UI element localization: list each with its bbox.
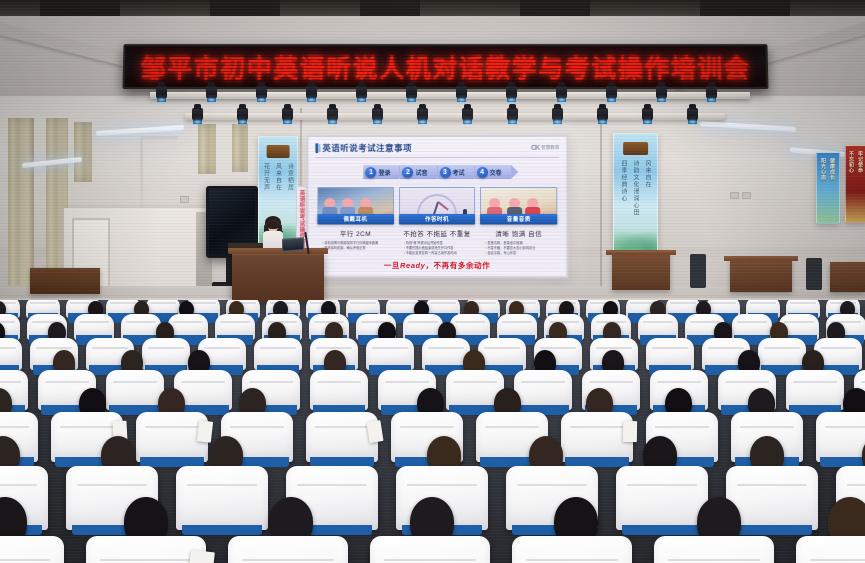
audience-seat	[616, 466, 708, 530]
audience-seat	[254, 338, 302, 370]
side-desk	[830, 262, 865, 292]
brand-text: 智慧教育	[541, 145, 559, 151]
poster-text-group: 四季经典诗心 诗韵文化浸润心田 风来自在	[614, 160, 657, 216]
stage-spotlight	[237, 108, 248, 121]
soffit-block	[210, 0, 280, 16]
audience-seat	[215, 314, 255, 340]
slide-panel: 作答时机不抢答 不拖延 不重复听到“滴”声提示后开始作答不要在提示音结束前抢先开…	[399, 187, 476, 256]
slide-panel-badge: 佩戴耳机	[317, 214, 393, 224]
slide-panel: 音量音质清晰 饱满 自信发音清晰，音量适中饱满不急不缓，不要忽大忽小影响评分自信…	[480, 187, 557, 256]
wall-plate	[180, 196, 189, 203]
poster-column: 风来自在	[274, 163, 283, 191]
led-banner: 邹平市初中英语听说人机对话教学与考试操作培训会	[122, 44, 768, 89]
slide-step-number: 1	[366, 167, 377, 178]
audience-seat	[758, 338, 806, 370]
footer-text-2: ，不再有多余动作	[425, 261, 490, 270]
slide-panel-subtitle: 不抢答 不拖延 不重复	[399, 228, 476, 238]
slide-bullet: 检查耳机连接，确认声音正常	[322, 246, 393, 251]
poster-text-group: 花开无声 风来自在 诗意栖居	[259, 163, 297, 191]
wall-poster-small-blue: 阳光心态 健康成长	[816, 152, 840, 224]
audience-seat	[786, 370, 844, 410]
poster-column: 四季经典诗心	[619, 160, 628, 216]
podium-top	[228, 248, 328, 254]
slide-logo: CK 智慧教育	[531, 144, 559, 151]
wall-plate	[742, 192, 751, 199]
slide-panel-subtitle: 清晰 饱满 自信	[480, 228, 557, 238]
audience-seat	[646, 338, 694, 370]
stage-spotlight	[706, 86, 717, 99]
stage-spotlight	[642, 108, 653, 121]
audience-seat	[0, 338, 22, 370]
stage-spotlight	[206, 86, 217, 99]
wall-plate	[730, 192, 739, 199]
audience-seat	[512, 536, 632, 563]
handout-paper	[187, 550, 215, 563]
audience-seat	[121, 314, 161, 340]
stage-spotlight	[327, 108, 338, 121]
slide-step-number: 4	[477, 166, 488, 177]
stage-spotlight	[417, 108, 428, 121]
stage-spotlight	[192, 108, 203, 121]
wall-pipe-horizontal	[140, 136, 178, 139]
stage-spotlight	[606, 86, 617, 99]
slide-title-bar-icon	[315, 143, 318, 153]
podium	[232, 252, 324, 302]
slide-header: 英语听说考试注意事项 CK 智慧教育	[315, 142, 559, 158]
slide-step: 3考试	[437, 165, 473, 179]
presentation-slide: 英语听说考试注意事项 CK 智慧教育 1登录2试音3考试4交卷 佩戴耳机平行 2…	[308, 137, 566, 276]
poster-grass-art	[614, 228, 657, 250]
slide-panel-bullets: 耳机话筒与嘴部保持平行约两厘米距离检查耳机连接，确认声音正常	[317, 241, 393, 251]
window-curtain	[232, 124, 248, 172]
poster-plaque	[623, 142, 649, 155]
slide-panel-bullets: 听到“滴”声提示后开始作答不要在提示音结束前抢先开口作答不能反复重复同一内容占用…	[399, 241, 476, 256]
slide-panel: 佩戴耳机平行 2CM耳机话筒与嘴部保持平行约两厘米距离检查耳机连接，确认声音正常	[317, 187, 393, 256]
stage-spotlight	[456, 86, 467, 99]
stage-spotlight	[156, 86, 167, 99]
slide-step-label: 登录	[379, 168, 391, 177]
presenter-laptop	[282, 238, 304, 253]
seat-frame	[182, 525, 263, 535]
poster-column: 牢记使命	[857, 151, 864, 173]
audience-seat	[816, 412, 865, 462]
stage-spotlight	[556, 86, 567, 99]
wall-poster-small-red: 不忘初心 牢记使命	[845, 145, 865, 223]
stage-spotlight	[372, 108, 383, 121]
brand-mark-icon: CK	[531, 144, 539, 151]
slide-step: 1登录	[364, 165, 400, 179]
audience-seat	[310, 370, 368, 410]
wall-poster-right: 四季经典诗心 诗韵文化浸润心田 风来自在	[613, 133, 658, 251]
slide-step-flow: 1登录2试音3考试4交卷	[315, 165, 559, 179]
audience-seat	[106, 370, 164, 410]
poster-column: 不忘初心	[848, 151, 855, 173]
audience-seat	[497, 314, 537, 340]
poster-column: 诗意栖居	[286, 163, 295, 191]
stage-spotlight	[356, 86, 367, 99]
audience-seat	[0, 536, 64, 563]
led-banner-text: 邹平市初中英语听说人机对话教学与考试操作培训会	[140, 49, 750, 85]
audience-seat	[654, 536, 774, 563]
slide-step-label: 试音	[415, 168, 427, 177]
slide-title: 英语听说考试注意事项	[322, 142, 412, 154]
poster-column: 诗韵文化浸润心田	[631, 160, 640, 216]
side-chair	[690, 254, 706, 288]
slide-step-label: 考试	[453, 167, 465, 176]
side-desk	[30, 268, 100, 294]
window-curtain	[198, 124, 216, 174]
audience-seat	[638, 314, 678, 340]
projection-screen: 英语听说考试注意事项 CK 智慧教育 1登录2试音3考试4交卷 佩戴耳机平行 2…	[306, 135, 568, 278]
handout-paper	[623, 421, 638, 442]
stage-spotlight	[597, 108, 608, 121]
audience-area	[0, 300, 865, 563]
slide-footer-note: 一旦Ready，不再有多余动作	[308, 260, 566, 271]
stage-spotlight	[462, 108, 473, 121]
side-desk	[730, 258, 792, 292]
poster-column: 风来自在	[643, 160, 652, 216]
poster-column: 健康成长	[829, 158, 836, 180]
poster-text-group: 不忘初心 牢记使命	[846, 151, 865, 173]
audience-seat	[450, 314, 490, 340]
stage-spotlight	[507, 108, 518, 121]
soffit-block	[700, 0, 790, 16]
stage-spotlight	[282, 108, 293, 121]
side-desk	[612, 252, 670, 290]
footer-text-1: 一旦	[384, 261, 400, 270]
audience-seat	[478, 338, 526, 370]
audience-seat	[403, 314, 443, 340]
audience-seat	[514, 370, 572, 410]
audience-seat	[142, 338, 190, 370]
wall-seam	[600, 108, 602, 288]
slide-panel-badge: 作答时机	[399, 214, 476, 224]
slide-step-label: 交卷	[490, 167, 502, 176]
slide-step-number: 3	[439, 166, 450, 177]
slide-bullet: 不能反复重复同一内容占用作答时间	[404, 251, 476, 256]
stage-spotlight	[506, 86, 517, 99]
audience-seat	[306, 412, 378, 462]
poster-text-group: 阳光心态 健康成长	[817, 158, 839, 180]
audience-seat	[370, 536, 490, 563]
slide-step-number: 2	[403, 167, 414, 178]
soffit-block	[520, 0, 590, 16]
seat-frame	[732, 525, 813, 535]
slide-panel-group: 佩戴耳机平行 2CM耳机话筒与嘴部保持平行约两厘米距离检查耳机连接，确认声音正常…	[315, 187, 559, 256]
stage-spotlight	[306, 86, 317, 99]
poster-column: 花开无声	[262, 163, 271, 191]
poster-column: 阳光心态	[820, 158, 827, 180]
window-curtain	[74, 122, 92, 182]
laptop-screen	[282, 237, 304, 252]
soffit-block	[40, 0, 120, 16]
handout-paper	[197, 420, 214, 443]
stage-spotlight	[552, 108, 563, 121]
audience-seat	[74, 314, 114, 340]
side-desk-top	[606, 250, 676, 255]
audience-seat	[732, 314, 772, 340]
slide-panel-badge: 音量音质	[480, 214, 557, 224]
audience-seat	[86, 536, 206, 563]
slide-bullet: 自信平稳，专心作答	[485, 251, 557, 256]
stage-spotlight	[656, 86, 667, 99]
slide-step: 4交卷	[475, 165, 511, 179]
seat-frame	[622, 525, 703, 535]
slide-panel-bullets: 发音清晰，音量适中饱满不急不缓，不要忽大忽小影响评分自信平稳，专心作答	[480, 241, 557, 256]
audience-seat	[366, 338, 414, 370]
side-chair	[806, 258, 822, 290]
footer-text-en: Ready	[400, 261, 425, 270]
stage-spotlight	[256, 86, 267, 99]
audience-seat	[796, 536, 865, 563]
poster-plaque	[267, 145, 290, 158]
slide-step: 2试音	[401, 165, 437, 179]
slide-panel-subtitle: 平行 2CM	[317, 228, 393, 238]
audience-seat	[176, 466, 268, 530]
wall-pipe	[140, 138, 143, 210]
soffit-block	[360, 0, 420, 16]
audience-seat	[168, 314, 208, 340]
stage-spotlight	[406, 86, 417, 99]
audience-seat	[228, 536, 348, 563]
conference-photo: 邹平市初中英语听说人机对话教学与考试操作培训会 花开无声 风来自在 诗意栖居 四…	[0, 0, 865, 563]
stage-spotlight	[687, 108, 698, 121]
side-desk-top	[724, 256, 798, 261]
